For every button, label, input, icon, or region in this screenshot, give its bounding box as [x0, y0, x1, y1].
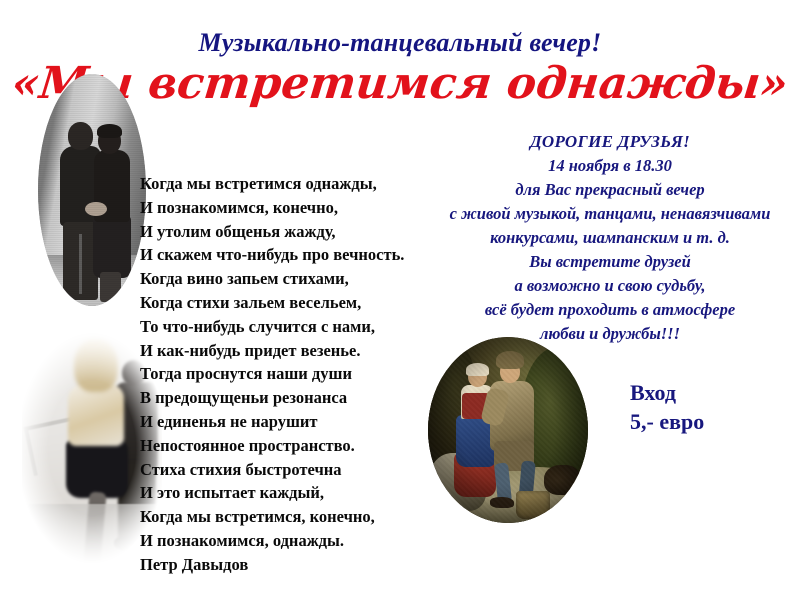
poem-line: И утолим общенья жажду,	[140, 220, 440, 244]
poem-line: Когда мы встретимся, конечно,	[140, 505, 440, 529]
announcement-line: всё будет проходить в атмосфере	[420, 298, 800, 322]
painting-oval	[428, 337, 588, 523]
entry-fee-block: Вход 5,- евро	[630, 378, 704, 436]
poem-line: Когда мы встретимся однажды,	[140, 172, 440, 196]
announcement-block: ДОРОГИЕ ДРУЗЬЯ! 14 ноября в 18.30 для Ва…	[420, 130, 800, 346]
announcement-line: а возможно и свою судьбу,	[420, 274, 800, 298]
poem-line: И единенья не нарушит	[140, 410, 440, 434]
entry-price: 5,- евро	[630, 407, 704, 436]
poem-line: То что-нибудь случится с нами,	[140, 315, 440, 339]
photo-film-grain	[38, 74, 146, 306]
poem-line: Когда стихи зальем весельем,	[140, 291, 440, 315]
poem-line: И познакомимся, однажды.	[140, 529, 440, 553]
poem-line: И как-нибудь придет везенье.	[140, 339, 440, 363]
entry-label: Вход	[630, 378, 704, 407]
photo-couple-oval	[38, 74, 146, 306]
poem-line: И это испытает каждый,	[140, 481, 440, 505]
announcement-line: для Вас прекрасный вечер	[420, 178, 800, 202]
poem-line: Когда вино запьем стихами,	[140, 267, 440, 291]
poem-block: Когда мы встретимся однажды, И познакоми…	[140, 172, 440, 577]
announcement-line: любви и дружбы!!!	[420, 322, 800, 346]
poem-line: Тогда проснутся наши души	[140, 362, 440, 386]
poster-canvas: Музыкально-танцевальный вечер! «Мы встре…	[0, 0, 800, 600]
painting-vignette	[428, 337, 588, 523]
poem-line: И познакомимся, конечно,	[140, 196, 440, 220]
announcement-heading: ДОРОГИЕ ДРУЗЬЯ!	[420, 130, 800, 154]
poem-line: Непостоянное пространство.	[140, 434, 440, 458]
announcement-datetime: 14 ноября в 18.30	[420, 154, 800, 178]
announcement-line: Вы встретите друзей	[420, 250, 800, 274]
poem-line: В предощущеньи резонанса	[140, 386, 440, 410]
poster-title-primary: Музыкально-танцевальный вечер!	[0, 28, 800, 58]
announcement-line: конкурсами, шампанским и т. д.	[420, 226, 800, 250]
poem-line: И скажем что-нибудь про вечность.	[140, 243, 440, 267]
poem-line: Стиха стихия быстротечна	[140, 458, 440, 482]
poem-author: Петр Давыдов	[140, 553, 440, 577]
announcement-line: с живой музыкой, танцами, ненавязчивами	[420, 202, 800, 226]
